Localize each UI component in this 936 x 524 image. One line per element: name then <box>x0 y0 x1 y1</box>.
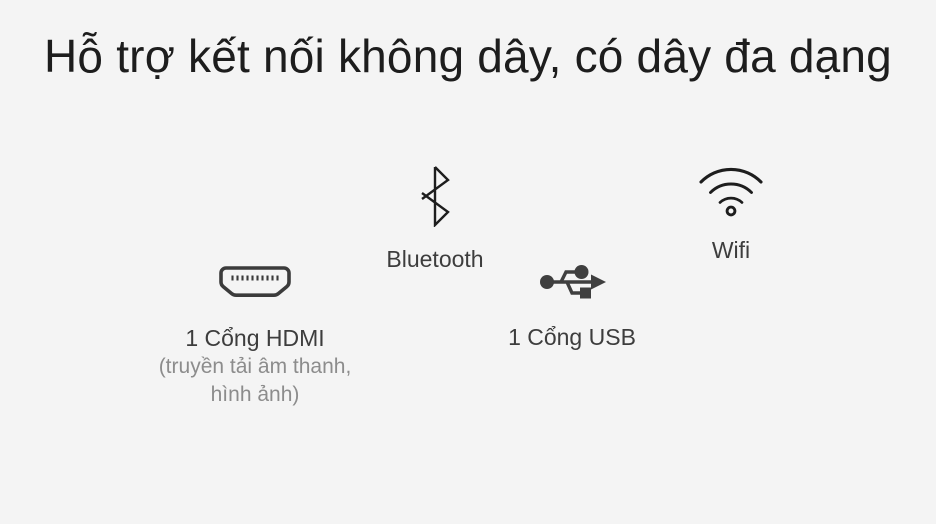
feature-usb-label: 1 Cổng USB <box>472 323 672 352</box>
feature-usb: 1 Cổng USB <box>472 262 672 352</box>
feature-hdmi-subtitle-line1: (truyền tải âm thanh, <box>105 353 405 381</box>
feature-hdmi-subtitle-line2: hình ảnh) <box>105 381 405 409</box>
connectivity-infographic: Hỗ trợ kết nối không dây, có dây đa dạng <box>0 0 936 524</box>
feature-bluetooth: Bluetooth <box>335 165 535 274</box>
feature-wifi: Wifi <box>651 165 811 265</box>
wifi-icon <box>651 165 811 222</box>
usb-icon <box>472 262 672 307</box>
feature-hdmi-label: 1 Cổng HDMI <box>105 324 405 353</box>
page-title: Hỗ trợ kết nối không dây, có dây đa dạng <box>0 30 936 83</box>
bluetooth-icon <box>335 165 535 232</box>
feature-hdmi: 1 Cổng HDMI (truyền tải âm thanh, hình ả… <box>105 265 405 409</box>
feature-wifi-label: Wifi <box>651 236 811 265</box>
